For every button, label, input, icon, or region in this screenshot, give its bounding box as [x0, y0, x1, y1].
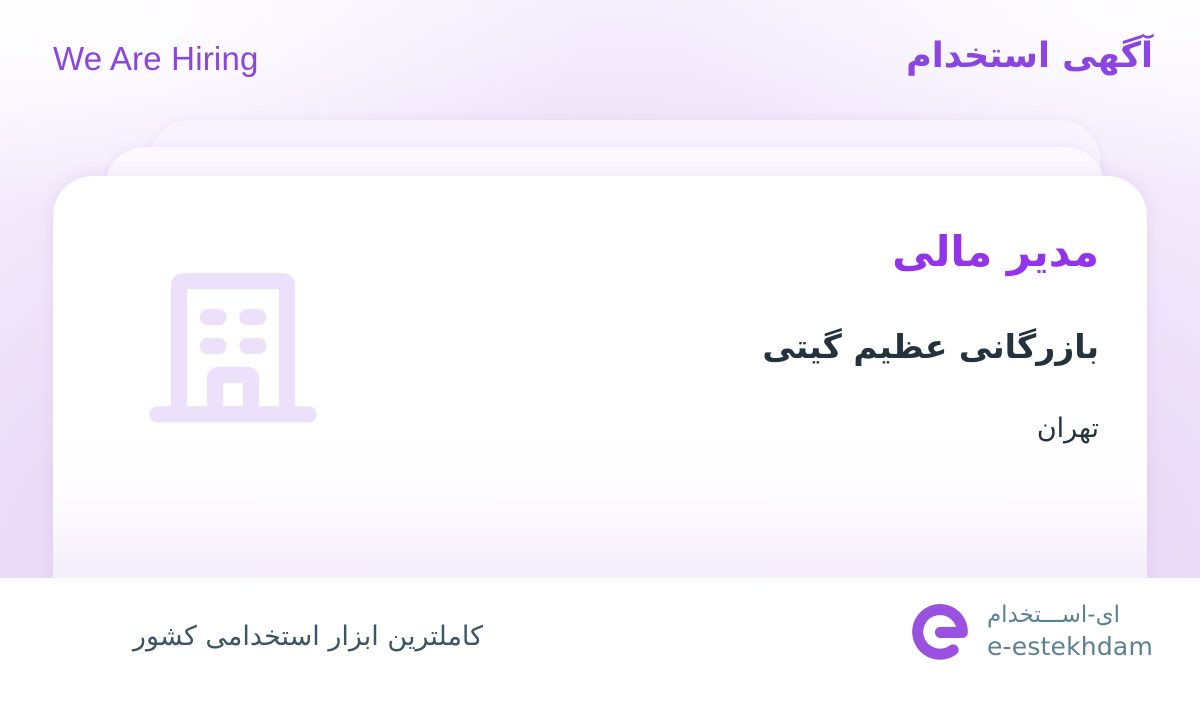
- job-card-content: مدیر مالی بازرگانی عظیم گیتی تهران: [53, 176, 1147, 578]
- brand-persian-name: ای-اســـتخدام: [987, 604, 1120, 627]
- building-icon: [143, 256, 323, 436]
- header-persian-label: آگهی استخدام: [906, 36, 1153, 76]
- poster-header: We Are Hiring آگهی استخدام: [0, 0, 1200, 118]
- company-name: بازرگانی عظیم گیتی: [499, 325, 1099, 370]
- poster-background: مدیر مالی بازرگانی عظیم گیتی تهران We Ar…: [0, 0, 1200, 578]
- footer-tagline: کاملترین ابزار استخدامی کشور: [133, 621, 483, 652]
- job-ad-poster: مدیر مالی بازرگانی عظیم گیتی تهران We Ar…: [0, 0, 1200, 705]
- job-city: تهران: [499, 411, 1099, 447]
- header-english-label: We Are Hiring: [53, 40, 259, 78]
- job-card[interactable]: مدیر مالی بازرگانی عظیم گیتی تهران: [53, 176, 1147, 578]
- job-details: مدیر مالی بازرگانی عظیم گیتی تهران: [499, 224, 1099, 448]
- brand-wordmark: ای-اســـتخدام e-estekhdam: [987, 604, 1153, 659]
- brand-logo[interactable]: ای-اســـتخدام e-estekhdam: [909, 600, 1153, 662]
- job-title: مدیر مالی: [499, 224, 1099, 281]
- e-logo-icon: [909, 600, 971, 662]
- brand-english-name: e-estekhdam: [987, 634, 1153, 659]
- poster-footer: کاملترین ابزار استخدامی کشور ای-اســـتخد…: [0, 578, 1200, 705]
